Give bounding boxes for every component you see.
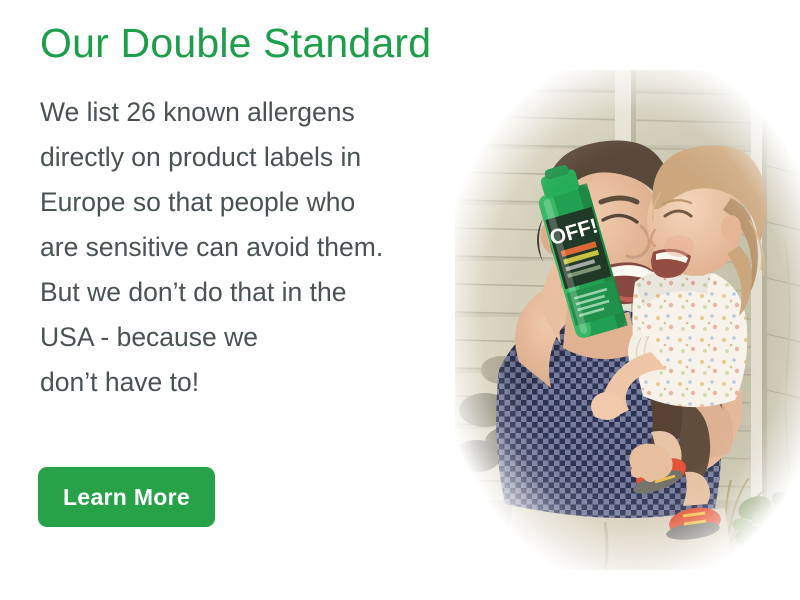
body-line: don’t have to! — [40, 360, 460, 405]
page-title: Our Double Standard — [40, 18, 460, 68]
body-line: But we don’t do that in the — [40, 270, 460, 315]
father-and-toddler-with-insect-repellent-photo: OFF! — [455, 70, 800, 570]
body-line: USA - because we — [40, 315, 460, 360]
body-line: We list 26 known allergens — [40, 90, 460, 135]
body-line: are sensitive can avoid them. — [40, 225, 460, 270]
double-standard-promo-panel: Our Double Standard We list 26 known all… — [0, 0, 800, 600]
cta-container: Learn More — [38, 467, 215, 527]
body-line: directly on product labels in — [40, 135, 460, 180]
photo-illustration: OFF! — [455, 70, 800, 570]
body-line: Europe so that people who — [40, 180, 460, 225]
learn-more-button[interactable]: Learn More — [38, 467, 215, 527]
text-column: Our Double Standard We list 26 known all… — [40, 18, 460, 405]
body-copy: We list 26 known allergens directly on p… — [40, 90, 460, 405]
